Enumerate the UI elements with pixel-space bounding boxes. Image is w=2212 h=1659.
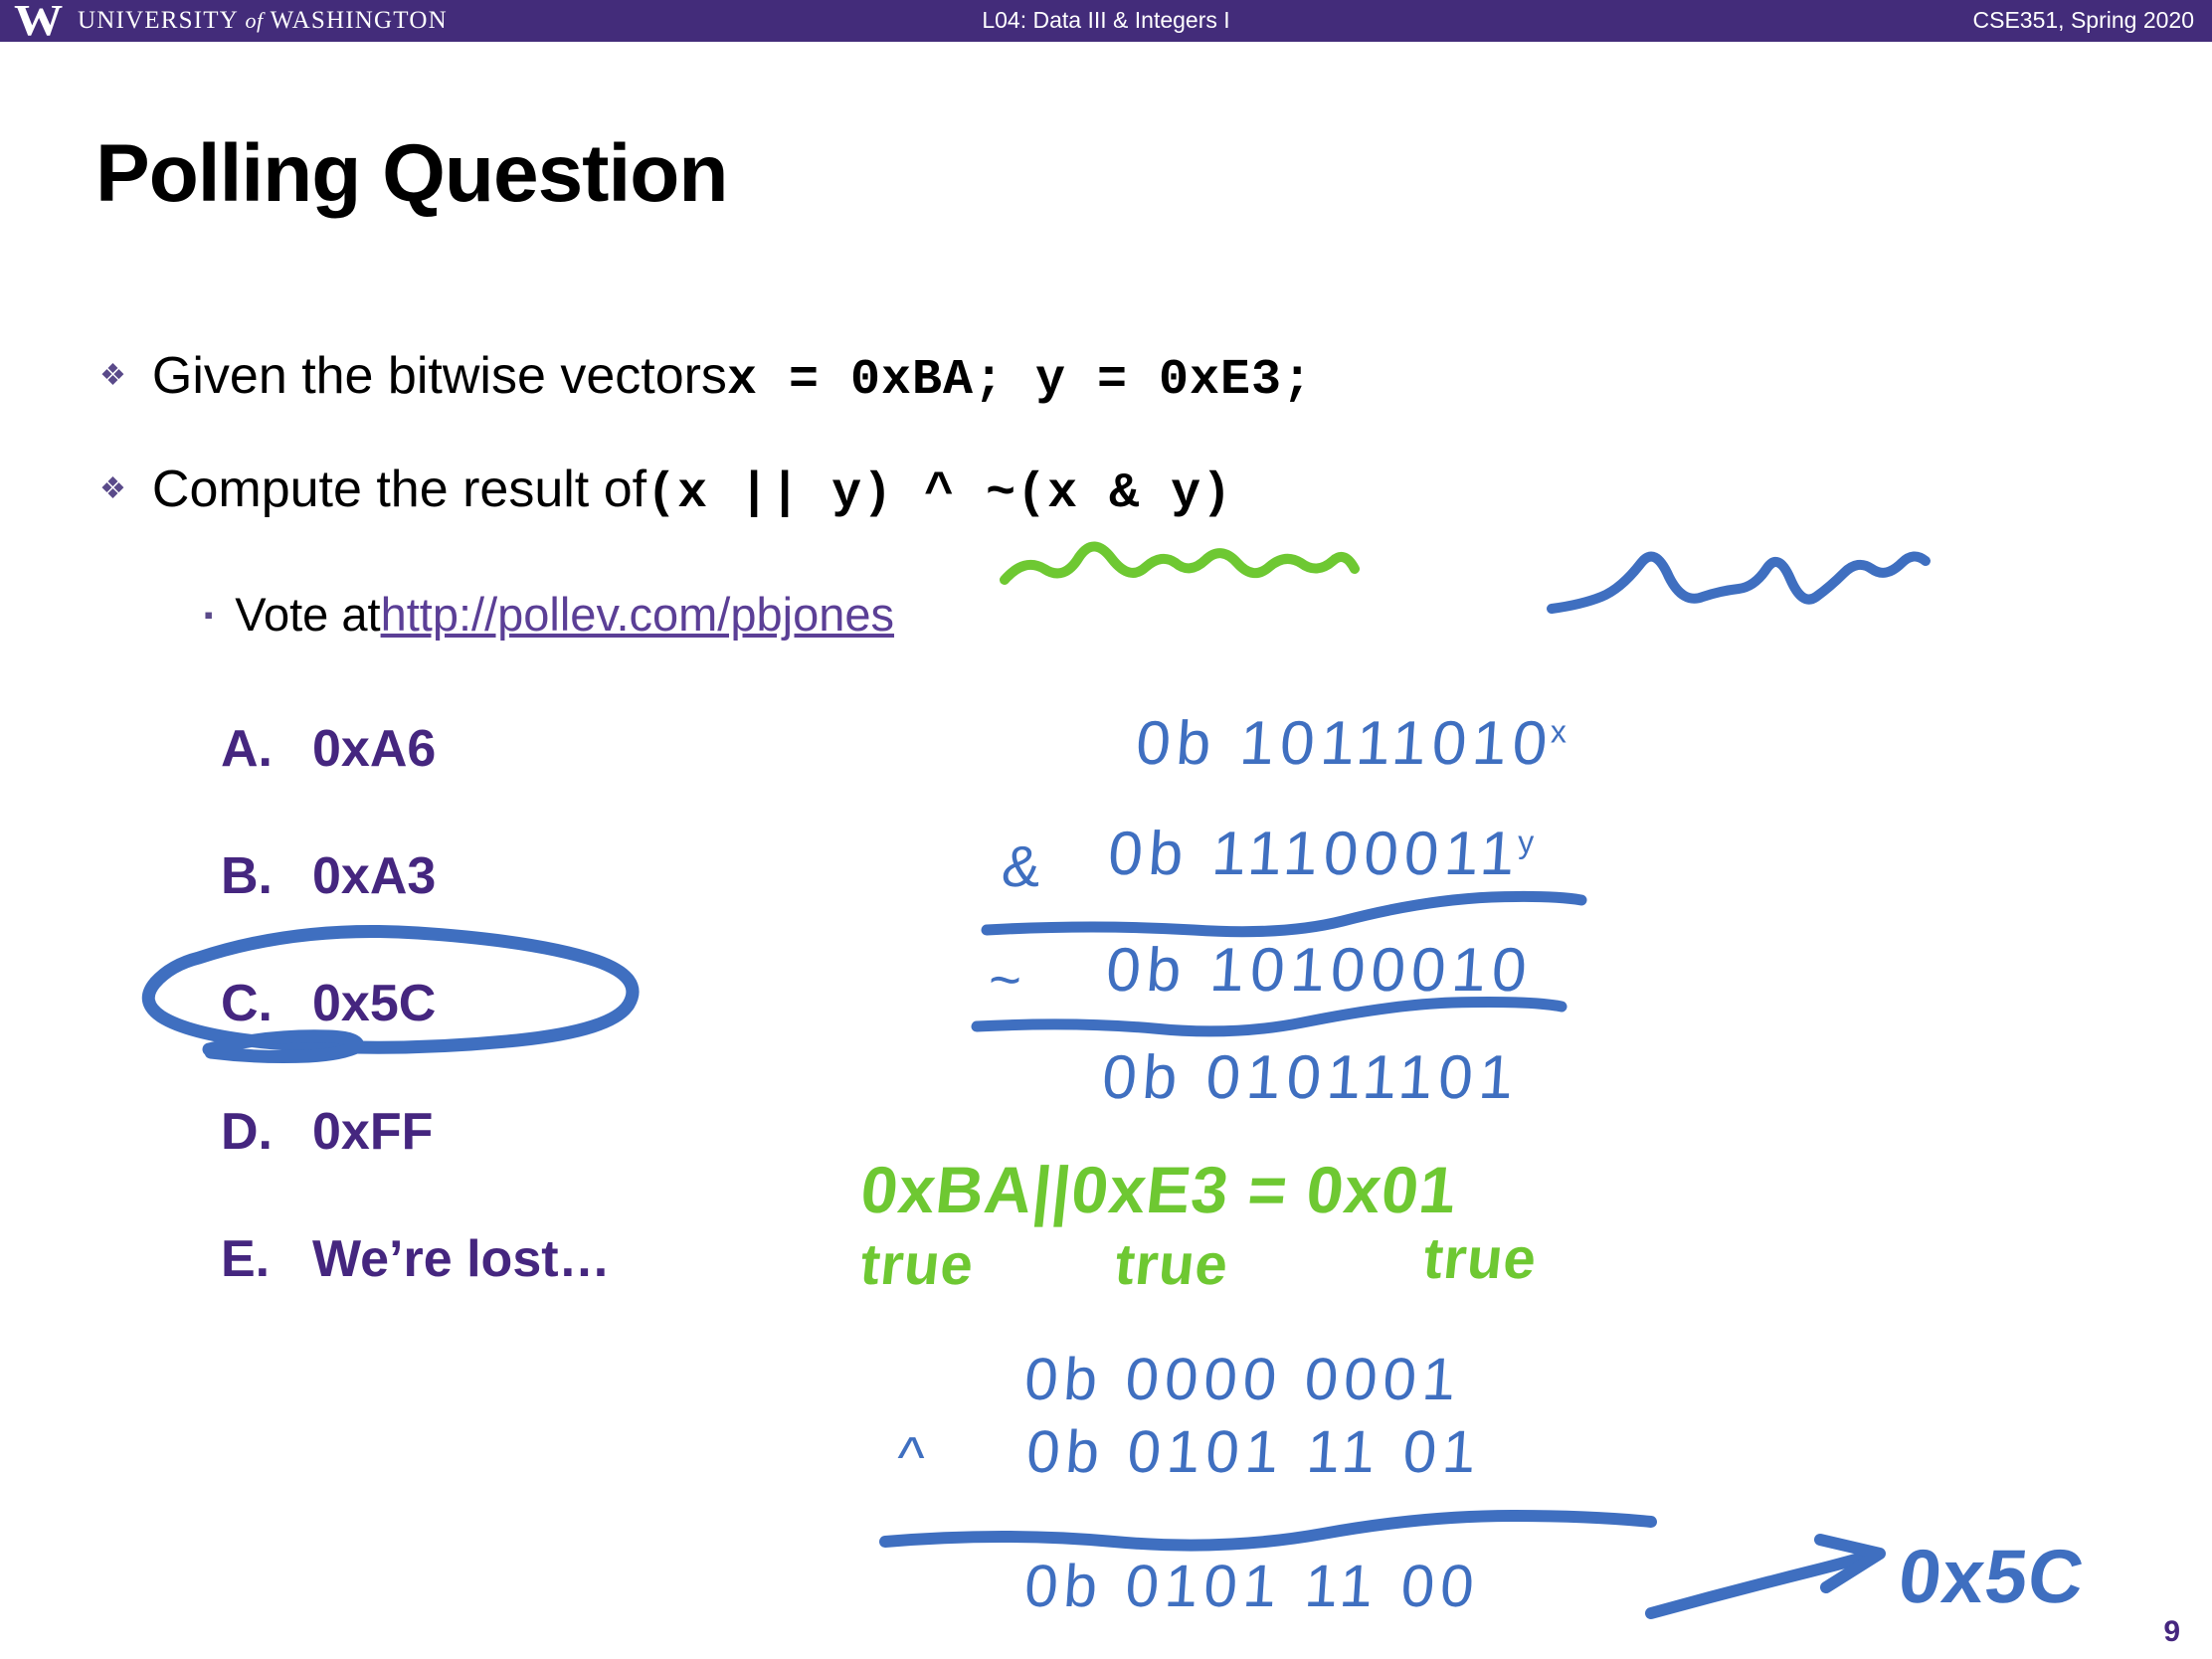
answer-choice-d[interactable]: D.0xFF — [221, 1102, 433, 1162]
green-squiggle-or — [1005, 546, 1355, 580]
bullet-2-text: Compute the result of — [152, 460, 646, 519]
square-bullet-icon: ▪ — [204, 600, 213, 631]
ink-final-answer: 0x5C — [1895, 1534, 2080, 1620]
vote-label: Vote at — [235, 587, 380, 642]
ink-bottom-xor-operand: 0b 0101 11 01 — [1024, 1417, 1479, 1486]
poll-everywhere-link[interactable]: http://pollev.com/pbjones — [381, 587, 894, 642]
course-term-label: CSE351, Spring 2020 — [1973, 0, 2195, 42]
ink-bottom-result: 0b 0101 11 00 — [1022, 1552, 1477, 1620]
ink-op-not: ~ — [987, 947, 1025, 1012]
lecture-title: L04: Data III & Integers I — [0, 0, 2212, 42]
ink-binary-x: 0b 10111010x — [1134, 708, 1567, 779]
ink-op-and: & — [1000, 833, 1044, 900]
answer-choice-c[interactable]: C.0x5C — [221, 974, 436, 1033]
choice-c-label: 0x5C — [312, 975, 436, 1032]
choice-b-letter: B. — [221, 846, 312, 906]
choice-a-letter: A. — [221, 719, 312, 779]
choice-c-letter: C. — [221, 974, 312, 1033]
choice-e-letter: E. — [221, 1229, 312, 1289]
bullet-2-code: (x || y) ^ ~(x & y) — [646, 465, 1232, 522]
ink-binary-y: 0b 11100011y — [1106, 819, 1534, 889]
ink-green-true-1: true — [857, 1231, 971, 1298]
slide-canvas: W UNIVERSITY of WASHINGTON L04: Data III… — [0, 0, 2212, 1659]
rule-not-result — [977, 1003, 1562, 1031]
blue-squiggle-and — [1552, 556, 1926, 609]
diamond-bullet-icon: ❖ — [99, 358, 126, 393]
choice-d-letter: D. — [221, 1102, 312, 1162]
rule-and-result — [987, 896, 1581, 931]
ink-green-true-3: true — [1420, 1225, 1534, 1292]
arrow-shaft — [1651, 1554, 1876, 1613]
choice-d-label: 0xFF — [312, 1103, 433, 1161]
answer-choice-a[interactable]: A.0xA6 — [221, 719, 436, 779]
ink-label-x: x — [1551, 713, 1567, 749]
choice-e-label: We’re lost… — [312, 1230, 611, 1288]
ink-bottom-xor-op: ^ — [895, 1424, 928, 1491]
underline-choice-c — [209, 1036, 358, 1057]
answer-choice-e[interactable]: E.We’re lost… — [221, 1229, 611, 1289]
page-title: Polling Question — [95, 127, 727, 221]
ink-green-true-2: true — [1112, 1231, 1225, 1298]
bullet-1-code: x = 0xBA; y = 0xE3; — [727, 352, 1313, 409]
page-number: 9 — [2163, 1615, 2180, 1649]
ink-bottom-or-line: 0b 0000 0001 — [1022, 1345, 1459, 1413]
slide-header-bar: W UNIVERSITY of WASHINGTON L04: Data III… — [0, 0, 2212, 42]
ink-green-expression: 0xBA||0xE3 = 0x01 — [857, 1152, 1453, 1227]
bullet-item-compute: ❖ Compute the result of (x || y) ^ ~(x &… — [99, 460, 1232, 522]
ink-binary-not-result: 0b 01011101 — [1100, 1042, 1517, 1113]
sub-bullet-vote: ▪ Vote at http://pollev.com/pbjones — [204, 587, 894, 642]
ink-label-y: y — [1518, 824, 1534, 859]
ink-annotation-layer: 0b 10111010x & 0b 11100011y ~ 0b 1010001… — [0, 0, 2212, 1659]
diamond-bullet-icon: ❖ — [99, 471, 126, 506]
bullet-1-text: Given the bitwise vectors — [152, 346, 727, 406]
choice-b-label: 0xA3 — [312, 847, 436, 905]
ink-strokes-svg — [0, 0, 2212, 1659]
ink-binary-and-result: 0b 10100010 — [1104, 935, 1530, 1006]
bullet-item-given: ❖ Given the bitwise vectors x = 0xBA; y … — [99, 346, 1313, 409]
arrow-head — [1820, 1540, 1880, 1587]
rule-xor-result — [885, 1516, 1651, 1546]
choice-a-label: 0xA6 — [312, 720, 436, 778]
answer-choice-b[interactable]: B.0xA3 — [221, 846, 436, 906]
